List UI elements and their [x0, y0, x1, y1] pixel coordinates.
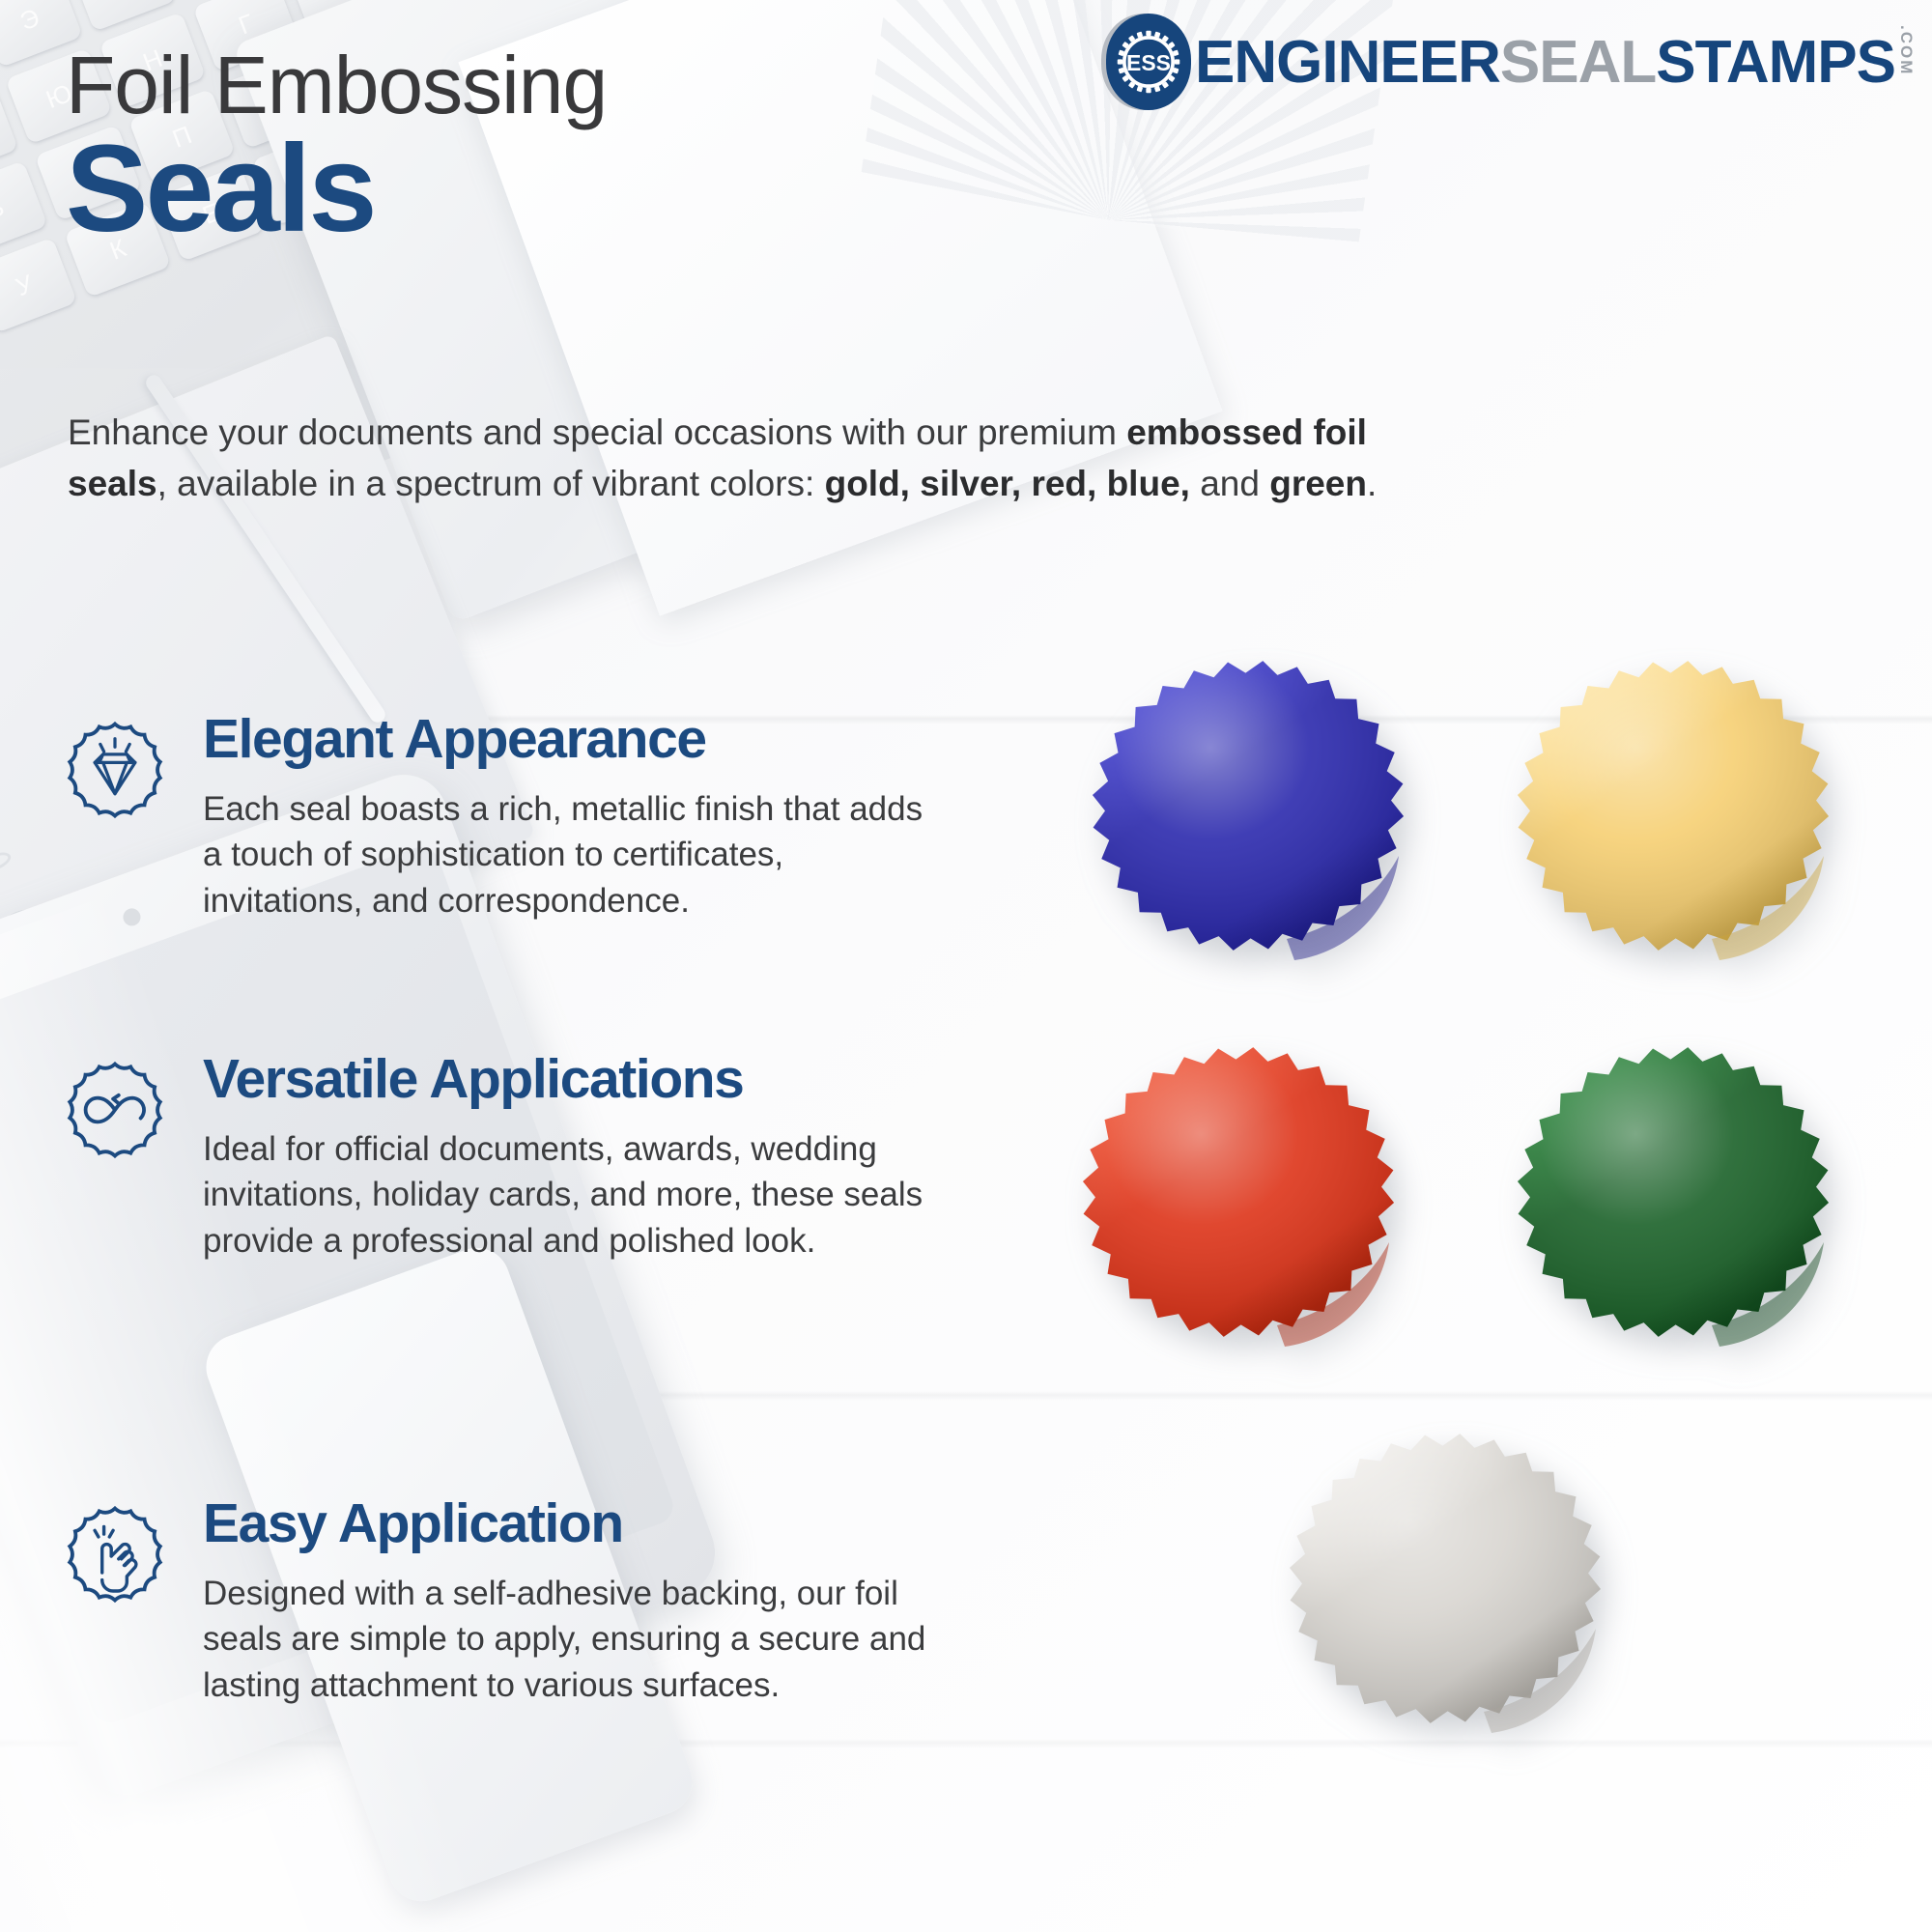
feature-title: Easy Application [203, 1495, 968, 1551]
infinity-arrow-icon [60, 1055, 170, 1165]
brand-logo[interactable]: ESS ENGINEER SEAL STAMPS .COM [1106, 14, 1915, 110]
title-line-top: Foil Embossing [66, 43, 607, 128]
seal-blue [1059, 638, 1445, 985]
infographic-canvas: КЛЭДЖЯЧСМИТЬБЮНГШЩЗХЪФЫВАПРОЛДЖЭЙЦУКЕНГШ… [0, 0, 1932, 1932]
logo-word-engineer: ENGINEER [1195, 33, 1500, 93]
seal-green [1484, 1024, 1870, 1372]
feature-versatile-applications: Versatile Applications Ideal for officia… [60, 1051, 929, 1264]
keyboard-key: Ж [596, 0, 702, 6]
feature-easy-application: Easy Application Designed with a self-ad… [60, 1495, 968, 1708]
keyboard-key: В [0, 160, 48, 257]
seal-silver [1256, 1410, 1642, 1758]
logo-wordmark: ENGINEER SEAL STAMPS .COM [1195, 31, 1915, 92]
intro-paragraph: Enhance your documents and special occas… [68, 408, 1420, 509]
feature-text: Each seal boasts a rich, metallic finish… [203, 786, 929, 923]
diamond-icon [60, 715, 170, 825]
seal-gold [1484, 638, 1870, 985]
feature-text: Ideal for official documents, awards, we… [203, 1126, 929, 1264]
feature-text: Designed with a self-adhesive backing, o… [203, 1571, 968, 1708]
keyboard-key: З [626, 0, 732, 82]
logo-word-stamps: STAMPS [1656, 33, 1895, 93]
keyboard-key: Д [70, 0, 177, 32]
page-title: Foil Embossing Seals [66, 43, 607, 249]
intro-bold-2: gold, silver, red, blue, [825, 464, 1190, 503]
keyboard-key: Щ [380, 0, 486, 1]
intro-part-2: , available in a spectrum of vibrant col… [157, 464, 825, 503]
title-line-main: Seals [66, 130, 607, 249]
feature-title: Elegant Appearance [203, 711, 929, 767]
intro-bold-3: green [1269, 464, 1367, 503]
pointing-hand-icon [60, 1499, 170, 1609]
intro-part-4: . [1367, 464, 1377, 503]
logo-word-seal: SEAL [1500, 33, 1656, 93]
feature-elegant-appearance: Elegant Appearance Each seal boasts a ri… [60, 711, 929, 923]
keyboard-key: Х [720, 0, 827, 46]
keyboard-key: Б [0, 84, 18, 181]
seal-red [1049, 1024, 1435, 1372]
keyboard-key: Ъ [812, 0, 919, 11]
intro-part-1: Enhance your documents and special occas… [68, 412, 1126, 452]
keyboard-key: Ш [286, 0, 393, 37]
keyboard-key: Д [502, 0, 610, 42]
logo-word-dotcom: .COM [1898, 25, 1915, 75]
intro-part-3: and [1190, 464, 1269, 503]
feature-title: Versatile Applications [203, 1051, 929, 1107]
ess-badge-text: ESS [1126, 50, 1171, 75]
ess-badge-icon: ESS [1106, 14, 1191, 110]
